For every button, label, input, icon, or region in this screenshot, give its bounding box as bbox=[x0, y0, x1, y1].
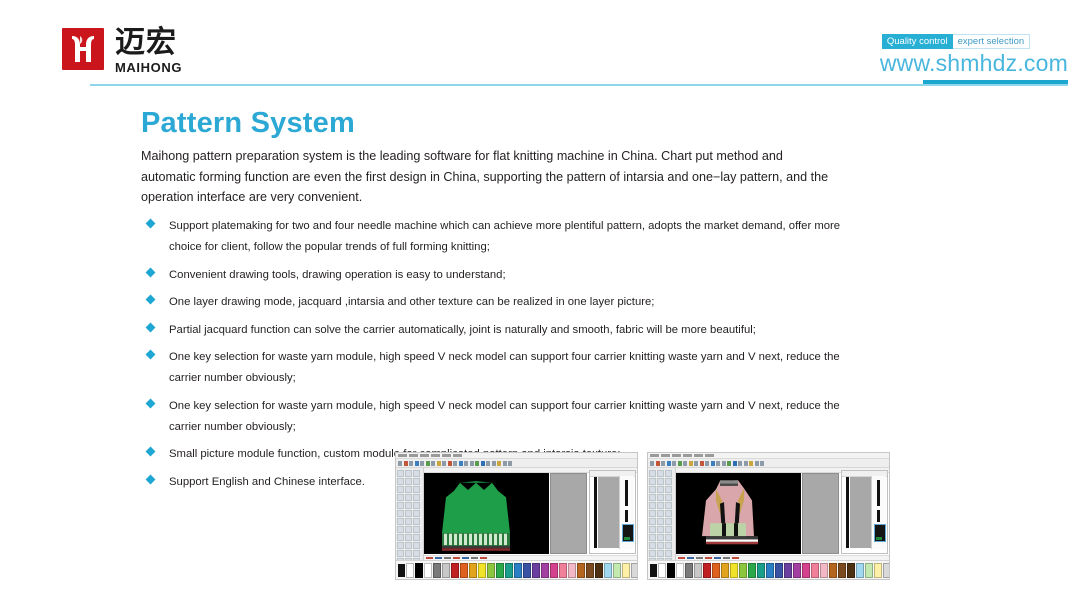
tool-cell[interactable] bbox=[405, 550, 412, 557]
current-color-swatch[interactable] bbox=[398, 564, 405, 577]
tool-cell[interactable] bbox=[397, 502, 404, 509]
tool-cell[interactable] bbox=[657, 502, 664, 509]
list-item: Convenient drawing tools, drawing operat… bbox=[147, 265, 847, 286]
toolbar-icon[interactable] bbox=[716, 461, 720, 466]
secondary-gray-pane[interactable] bbox=[550, 473, 587, 554]
toolbar-icon[interactable] bbox=[694, 461, 698, 466]
toolbar-icon[interactable] bbox=[744, 461, 748, 466]
status-tag bbox=[723, 557, 730, 560]
alt-color-swatch[interactable] bbox=[406, 563, 414, 578]
status-tag bbox=[705, 557, 712, 560]
tool-cell[interactable] bbox=[413, 518, 420, 525]
menu-item[interactable] bbox=[409, 454, 418, 457]
menu-item[interactable] bbox=[694, 454, 703, 457]
color-swatch[interactable] bbox=[811, 563, 819, 578]
tool-cell[interactable] bbox=[665, 510, 672, 517]
tool-cell[interactable] bbox=[405, 478, 412, 485]
toolbar-icon[interactable] bbox=[683, 461, 687, 466]
menu-item[interactable] bbox=[661, 454, 670, 457]
current-color-swatch[interactable] bbox=[650, 564, 657, 577]
color-swatch[interactable] bbox=[460, 563, 468, 578]
list-item: Partial jacquard function can solve the … bbox=[147, 320, 847, 341]
page-header: 迈宏 MAIHONG Quality control expert select… bbox=[0, 0, 1080, 86]
status-tag bbox=[444, 557, 451, 560]
toolbar-icon[interactable] bbox=[464, 461, 468, 466]
status-tag bbox=[462, 557, 469, 560]
diamond-bullet-icon bbox=[146, 295, 156, 305]
brand-name-en: MAIHONG bbox=[115, 61, 182, 75]
panel-preview-column[interactable] bbox=[619, 476, 634, 549]
color-swatch[interactable] bbox=[802, 563, 810, 578]
color-swatch[interactable] bbox=[685, 563, 693, 578]
tool-cell[interactable] bbox=[649, 542, 656, 549]
color-swatch[interactable] bbox=[874, 563, 882, 578]
toolbar-icon[interactable] bbox=[459, 461, 463, 466]
color-swatch[interactable] bbox=[856, 563, 864, 578]
tool-cell[interactable] bbox=[405, 518, 412, 525]
toolbar-icon[interactable] bbox=[738, 461, 742, 466]
pattern-thumbnail[interactable] bbox=[622, 524, 634, 542]
color-swatch[interactable] bbox=[532, 563, 540, 578]
tool-cell[interactable] bbox=[649, 478, 656, 485]
color-swatch[interactable] bbox=[568, 563, 576, 578]
diamond-bullet-icon bbox=[146, 350, 156, 360]
toolbar-icon[interactable] bbox=[689, 461, 693, 466]
color-swatch[interactable] bbox=[604, 563, 612, 578]
toolbar-icon[interactable] bbox=[442, 461, 446, 466]
tool-cell[interactable] bbox=[397, 534, 404, 541]
color-swatch[interactable] bbox=[505, 563, 513, 578]
pattern-canvas[interactable] bbox=[424, 473, 549, 554]
alt-color-swatch[interactable] bbox=[658, 563, 666, 578]
tool-cell[interactable] bbox=[657, 542, 664, 549]
toolbar-icon[interactable] bbox=[700, 461, 704, 466]
tool-cell[interactable] bbox=[405, 542, 412, 549]
toolbar-icon[interactable] bbox=[420, 461, 424, 466]
toolbar-icon[interactable] bbox=[749, 461, 753, 466]
color-swatch[interactable] bbox=[865, 563, 873, 578]
badge-quality-control: Quality control bbox=[882, 34, 953, 49]
badge-expert-selection: expert selection bbox=[953, 34, 1031, 49]
tool-cell[interactable] bbox=[665, 478, 672, 485]
list-item-label: Partial jacquard function can solve the … bbox=[169, 320, 847, 341]
color-swatch[interactable] bbox=[721, 563, 729, 578]
color-swatch[interactable] bbox=[586, 563, 594, 578]
tool-cell[interactable] bbox=[665, 542, 672, 549]
toolbar-icon[interactable] bbox=[409, 461, 413, 466]
tool-cell[interactable] bbox=[413, 526, 420, 533]
toolbar-icon[interactable] bbox=[755, 461, 759, 466]
toolbar-icon[interactable] bbox=[656, 461, 660, 466]
tool-cell[interactable] bbox=[397, 542, 404, 549]
color-swatch[interactable] bbox=[838, 563, 846, 578]
tool-cell[interactable] bbox=[649, 494, 656, 501]
tool-cell[interactable] bbox=[649, 502, 656, 509]
color-swatch[interactable] bbox=[496, 563, 504, 578]
status-tag bbox=[426, 557, 433, 560]
preview-strip bbox=[625, 510, 628, 522]
color-swatch[interactable] bbox=[595, 563, 603, 578]
list-item-label: Convenient drawing tools, drawing operat… bbox=[169, 265, 847, 286]
tool-cell[interactable] bbox=[649, 510, 656, 517]
needle-strip bbox=[594, 477, 597, 548]
h-glyph-icon bbox=[69, 34, 97, 64]
tool-cell[interactable] bbox=[397, 526, 404, 533]
list-item-label: One layer drawing mode, jacquard ,intars… bbox=[169, 292, 847, 313]
tool-cell[interactable] bbox=[413, 470, 420, 477]
tool-cell[interactable] bbox=[405, 534, 412, 541]
toolbar-icon[interactable] bbox=[426, 461, 430, 466]
color-swatch[interactable] bbox=[775, 563, 783, 578]
toolbar-icon[interactable] bbox=[650, 461, 654, 466]
tool-cell[interactable] bbox=[665, 534, 672, 541]
tool-cell[interactable] bbox=[657, 526, 664, 533]
tool-cell[interactable] bbox=[405, 526, 412, 533]
menu-item[interactable] bbox=[650, 454, 659, 457]
pattern-thumbnail[interactable] bbox=[874, 524, 886, 542]
menu-item[interactable] bbox=[431, 454, 440, 457]
diamond-bullet-icon bbox=[146, 398, 156, 408]
menu-item[interactable] bbox=[453, 454, 462, 457]
list-item-label: One key selection for waste yarn module,… bbox=[169, 396, 847, 438]
tool-cell[interactable] bbox=[397, 470, 404, 477]
tool-cell[interactable] bbox=[397, 478, 404, 485]
color-swatch[interactable] bbox=[748, 563, 756, 578]
diamond-bullet-icon bbox=[146, 219, 156, 229]
color-swatch[interactable] bbox=[631, 563, 637, 578]
tool-cell[interactable] bbox=[657, 550, 664, 557]
tool-cell[interactable] bbox=[649, 470, 656, 477]
toolbar-icon[interactable] bbox=[492, 461, 496, 466]
toolbar-icon[interactable] bbox=[398, 461, 402, 466]
needle-strip bbox=[846, 477, 849, 548]
menu-item[interactable] bbox=[672, 454, 681, 457]
list-item-label: Support platemaking for two and four nee… bbox=[169, 216, 847, 258]
color-swatch[interactable] bbox=[667, 563, 675, 578]
tool-cell[interactable] bbox=[405, 510, 412, 517]
tool-cell[interactable] bbox=[649, 550, 656, 557]
tool-cell[interactable] bbox=[413, 478, 420, 485]
status-tag bbox=[471, 557, 478, 560]
toolbar-icon[interactable] bbox=[475, 461, 479, 466]
color-swatch[interactable] bbox=[613, 563, 621, 578]
editor-workspace[interactable] bbox=[424, 468, 637, 560]
color-swatch[interactable] bbox=[739, 563, 747, 578]
color-swatch[interactable] bbox=[577, 563, 585, 578]
color-swatch[interactable] bbox=[622, 563, 630, 578]
color-swatch[interactable] bbox=[451, 563, 459, 578]
knit-data-panel[interactable] bbox=[589, 470, 636, 554]
tool-cell[interactable] bbox=[657, 478, 664, 485]
color-swatch[interactable] bbox=[766, 563, 774, 578]
list-item: Support platemaking for two and four nee… bbox=[147, 216, 847, 258]
brand-tagline-block: Quality control expert selection www.shm… bbox=[880, 34, 1068, 76]
color-swatch[interactable] bbox=[433, 563, 441, 578]
tool-cell[interactable] bbox=[413, 534, 420, 541]
tool-cell[interactable] bbox=[413, 542, 420, 549]
color-swatch[interactable] bbox=[523, 563, 531, 578]
status-tag bbox=[687, 557, 694, 560]
tool-cell[interactable] bbox=[665, 526, 672, 533]
tool-cell[interactable] bbox=[649, 534, 656, 541]
tool-bar[interactable] bbox=[648, 459, 889, 468]
color-swatch[interactable] bbox=[487, 563, 495, 578]
toolbar-icon[interactable] bbox=[404, 461, 408, 466]
diamond-bullet-icon bbox=[146, 474, 156, 484]
tool-cell[interactable] bbox=[665, 550, 672, 557]
toolbar-icon[interactable] bbox=[453, 461, 457, 466]
tool-cell[interactable] bbox=[413, 486, 420, 493]
tool-palette-panel[interactable] bbox=[648, 468, 676, 560]
diamond-bullet-icon bbox=[146, 322, 156, 332]
brand-name-cn: 迈宏 bbox=[115, 28, 182, 58]
toolbar-icon[interactable] bbox=[667, 461, 671, 466]
toolbar-icon[interactable] bbox=[470, 461, 474, 466]
tool-cell[interactable] bbox=[413, 502, 420, 509]
color-swatch[interactable] bbox=[514, 563, 522, 578]
color-swatch[interactable] bbox=[559, 563, 567, 578]
tool-cell[interactable] bbox=[657, 494, 664, 501]
color-swatch[interactable] bbox=[478, 563, 486, 578]
toolbar-icon-active[interactable] bbox=[733, 461, 737, 466]
screenshot-pattern-editor-green[interactable] bbox=[395, 452, 638, 580]
toolbar-icon[interactable] bbox=[711, 461, 715, 466]
preview-strip bbox=[877, 510, 880, 522]
toolbar-icon[interactable] bbox=[437, 461, 441, 466]
color-swatch[interactable] bbox=[541, 563, 549, 578]
color-swatch[interactable] bbox=[424, 563, 432, 578]
header-divider bbox=[90, 84, 1068, 86]
toolbar-icon[interactable] bbox=[727, 461, 731, 466]
color-swatch[interactable] bbox=[550, 563, 558, 578]
toolbar-icon[interactable] bbox=[448, 461, 452, 466]
tool-cell[interactable] bbox=[413, 510, 420, 517]
tool-cell[interactable] bbox=[405, 494, 412, 501]
toolbar-icon[interactable] bbox=[503, 461, 507, 466]
color-swatch[interactable] bbox=[793, 563, 801, 578]
editor-workspace[interactable] bbox=[676, 468, 889, 560]
menu-item[interactable] bbox=[420, 454, 429, 457]
tool-cell[interactable] bbox=[649, 526, 656, 533]
diamond-bullet-icon bbox=[146, 267, 156, 277]
tool-cell[interactable] bbox=[405, 486, 412, 493]
list-item-label: One key selection for waste yarn module,… bbox=[169, 347, 847, 389]
color-swatch[interactable] bbox=[847, 563, 855, 578]
tool-cell[interactable] bbox=[657, 510, 664, 517]
list-item: One key selection for waste yarn module,… bbox=[147, 347, 847, 389]
color-swatch[interactable] bbox=[703, 563, 711, 578]
color-palette-bar[interactable] bbox=[648, 560, 889, 579]
color-swatch[interactable] bbox=[829, 563, 837, 578]
intro-paragraph: Maihong pattern preparation system is th… bbox=[141, 146, 833, 208]
tool-cell[interactable] bbox=[657, 486, 664, 493]
green-sweater-shape bbox=[424, 473, 549, 554]
toolbar-icon[interactable] bbox=[486, 461, 490, 466]
color-swatch[interactable] bbox=[883, 563, 889, 578]
tool-cell[interactable] bbox=[665, 502, 672, 509]
menu-item[interactable] bbox=[705, 454, 714, 457]
status-tag bbox=[480, 557, 487, 560]
toolbar-icon[interactable] bbox=[431, 461, 435, 466]
toolbar-icon[interactable] bbox=[661, 461, 665, 466]
menu-item[interactable] bbox=[683, 454, 692, 457]
toolbar-icon[interactable] bbox=[672, 461, 676, 466]
toolbar-icon[interactable] bbox=[722, 461, 726, 466]
maihong-h-logo-icon bbox=[62, 28, 104, 70]
list-item: One layer drawing mode, jacquard ,intars… bbox=[147, 292, 847, 313]
panel-preview-column[interactable] bbox=[871, 476, 886, 549]
preview-strip bbox=[625, 480, 628, 506]
tool-cell[interactable] bbox=[657, 470, 664, 477]
color-swatch[interactable] bbox=[712, 563, 720, 578]
tool-cell[interactable] bbox=[665, 470, 672, 477]
tool-cell[interactable] bbox=[649, 518, 656, 525]
status-tag bbox=[696, 557, 703, 560]
toolbar-icon[interactable] bbox=[678, 461, 682, 466]
color-swatch[interactable] bbox=[469, 563, 477, 578]
brand-logo: 迈宏 MAIHONG bbox=[62, 28, 182, 75]
toolbar-icon[interactable] bbox=[508, 461, 512, 466]
color-swatch[interactable] bbox=[820, 563, 828, 578]
toolbar-icon[interactable] bbox=[415, 461, 419, 466]
list-item: One key selection for waste yarn module,… bbox=[147, 396, 847, 438]
preview-strip bbox=[877, 480, 880, 506]
tool-cell[interactable] bbox=[649, 486, 656, 493]
tool-cell[interactable] bbox=[665, 518, 672, 525]
color-palette-bar[interactable] bbox=[396, 560, 637, 579]
toolbar-icon[interactable] bbox=[497, 461, 501, 466]
status-tag bbox=[453, 557, 460, 560]
diamond-bullet-icon bbox=[146, 447, 156, 457]
color-swatch[interactable] bbox=[415, 563, 423, 578]
tool-cell[interactable] bbox=[657, 534, 664, 541]
tool-cell[interactable] bbox=[397, 494, 404, 501]
secondary-gray-pane[interactable] bbox=[802, 473, 839, 554]
tool-cell[interactable] bbox=[397, 510, 404, 517]
page-title: Pattern System bbox=[141, 106, 355, 140]
color-swatch[interactable] bbox=[757, 563, 765, 578]
color-swatch[interactable] bbox=[676, 563, 684, 578]
color-swatch[interactable] bbox=[730, 563, 738, 578]
color-swatch[interactable] bbox=[442, 563, 450, 578]
status-tag bbox=[732, 557, 739, 560]
screenshot-pattern-editor-pink[interactable] bbox=[647, 452, 890, 580]
pattern-canvas[interactable] bbox=[676, 473, 801, 554]
tool-cell[interactable] bbox=[397, 518, 404, 525]
tool-cell[interactable] bbox=[657, 518, 664, 525]
menu-item[interactable] bbox=[442, 454, 451, 457]
color-swatch[interactable] bbox=[784, 563, 792, 578]
toolbar-icon[interactable] bbox=[705, 461, 709, 466]
tagline-badges: Quality control expert selection bbox=[882, 34, 1068, 49]
tool-cell[interactable] bbox=[397, 550, 404, 557]
website-url[interactable]: www.shmhdz.com bbox=[880, 50, 1068, 76]
tool-bar[interactable] bbox=[396, 459, 637, 468]
menu-item[interactable] bbox=[398, 454, 407, 457]
pink-garment-shape bbox=[676, 473, 801, 554]
tool-cell[interactable] bbox=[397, 486, 404, 493]
tool-cell[interactable] bbox=[665, 494, 672, 501]
toolbar-icon-active[interactable] bbox=[481, 461, 485, 466]
color-swatch[interactable] bbox=[694, 563, 702, 578]
toolbar-icon[interactable] bbox=[760, 461, 764, 466]
status-tag bbox=[435, 557, 442, 560]
tool-cell[interactable] bbox=[665, 486, 672, 493]
tool-cell[interactable] bbox=[413, 494, 420, 501]
status-tag bbox=[714, 557, 721, 560]
tool-palette-panel[interactable] bbox=[396, 468, 424, 560]
tool-cell[interactable] bbox=[405, 470, 412, 477]
software-screenshot-gallery bbox=[395, 452, 890, 580]
knit-data-panel[interactable] bbox=[841, 470, 888, 554]
tool-cell[interactable] bbox=[405, 502, 412, 509]
status-tag bbox=[678, 557, 685, 560]
tool-cell[interactable] bbox=[413, 550, 420, 557]
